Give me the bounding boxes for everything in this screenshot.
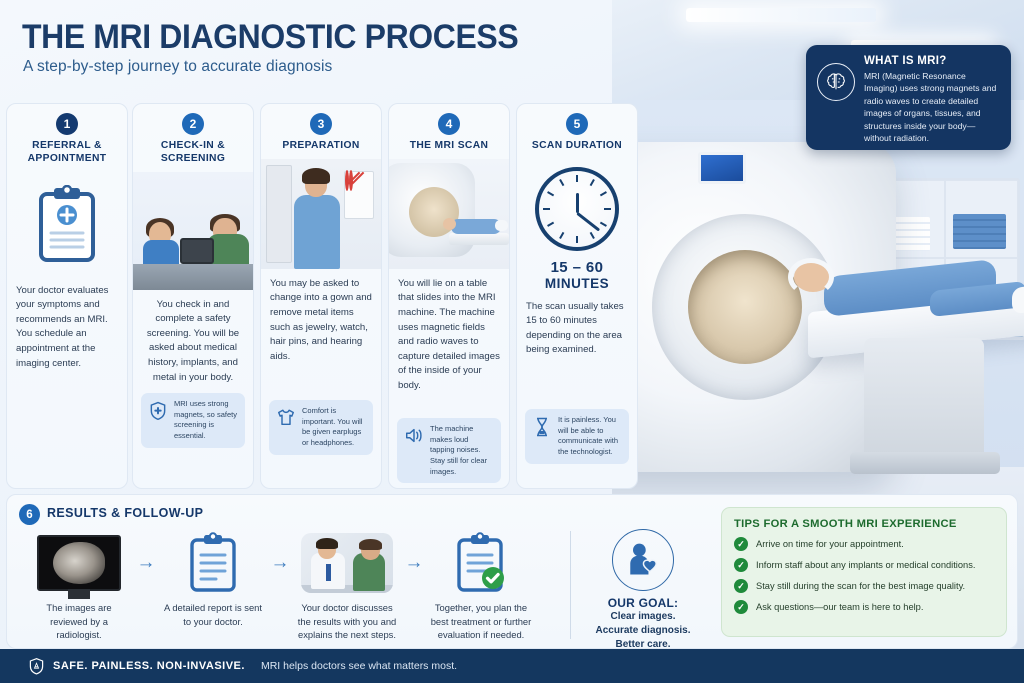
footer-headline: SAFE. PAINLESS. NON-INVASIVE. bbox=[53, 660, 245, 672]
step-tip-4: The machine makes loud tapping noises. S… bbox=[397, 418, 501, 483]
flow-caption-4: Together, you plan the best treatment or… bbox=[429, 601, 533, 642]
our-goal-block: OUR GOAL: Clear images. Accurate diagnos… bbox=[579, 529, 707, 653]
tip-text-2: Inform staff about any implants or medic… bbox=[756, 559, 975, 571]
step-badge-6: 6 bbox=[19, 504, 40, 525]
tip-text-1: Arrive on time for your appointment. bbox=[756, 538, 904, 550]
brain-icon bbox=[817, 63, 855, 101]
step-card-3[interactable]: 3 PREPARATION You may be asked to change… bbox=[260, 103, 382, 489]
flow-arrow-1: → bbox=[131, 529, 161, 597]
flow-caption-3: Your doctor discusses the results with y… bbox=[295, 601, 399, 642]
step-title-3: PREPARATION bbox=[265, 140, 377, 153]
step-card-1[interactable]: 1 REFERRAL & APPOINTMENT Your doctor eva… bbox=[6, 103, 128, 489]
step-body-2: You check in and complete a safety scree… bbox=[133, 298, 253, 385]
reception-photo bbox=[133, 172, 253, 290]
goal-title: OUR GOAL: bbox=[579, 596, 707, 610]
step-badge-3: 3 bbox=[310, 113, 332, 135]
gantry-display-icon bbox=[698, 152, 746, 184]
tips-panel: TIPS FOR A SMOOTH MRI EXPERIENCE ✓ Arriv… bbox=[721, 507, 1007, 637]
flow-caption-2: A detailed report is sent to your doctor… bbox=[161, 601, 265, 628]
step-tip-text-5: It is painless. You will be able to comm… bbox=[558, 415, 622, 458]
step-title-5: SCAN DURATION bbox=[521, 140, 633, 153]
what-is-mri-box: WHAT IS MRI? MRI (Magnetic Resonance Ima… bbox=[806, 45, 1011, 150]
shield-plus-icon bbox=[148, 399, 168, 421]
flow-caption-1: The images are reviewed by a radiologist… bbox=[27, 601, 131, 642]
clock-icon bbox=[517, 159, 637, 259]
step-title-2: CHECK-IN & SCREENING bbox=[137, 140, 249, 166]
mri-scanner-photo bbox=[389, 159, 509, 269]
goal-line-1: Clear images. bbox=[579, 610, 707, 624]
tip-text-3: Stay still during the scan for the best … bbox=[756, 580, 965, 592]
check-circle-icon: ✓ bbox=[734, 537, 748, 551]
panel-divider bbox=[570, 531, 571, 639]
footer-bar: SAFE. PAINLESS. NON-INVASIVE. MRI helps … bbox=[0, 649, 1024, 683]
results-flow: The images are reviewed by a radiologist… bbox=[27, 529, 567, 641]
tip-item: ✓ Inform staff about any implants or med… bbox=[734, 558, 994, 572]
step-title-4: THE MRI SCAN bbox=[393, 140, 505, 153]
infographic-root: THE MRI DIAGNOSTIC PROCESS A step-by-ste… bbox=[0, 0, 1024, 683]
tips-title: TIPS FOR A SMOOTH MRI EXPERIENCE bbox=[734, 518, 994, 530]
step-body-4: You will lie on a table that slides into… bbox=[389, 277, 509, 394]
duration-unit: MINUTES bbox=[517, 276, 637, 292]
duration-range: 15 – 60 bbox=[517, 259, 637, 276]
mri-brain-scan-monitor bbox=[27, 529, 131, 597]
gown-shirt-icon bbox=[276, 406, 296, 427]
doctor-patient-consult-photo bbox=[295, 529, 399, 597]
tip-item: ✓ Arrive on time for your appointment. bbox=[734, 537, 994, 551]
clipboard-check-icon bbox=[429, 529, 533, 597]
step-body-3: You may be asked to change into a gown a… bbox=[261, 277, 381, 364]
report-clipboard-icon bbox=[161, 529, 265, 597]
flow-step-3: Your doctor discusses the results with y… bbox=[295, 529, 399, 642]
tip-item: ✓ Stay still during the scan for the bes… bbox=[734, 579, 994, 593]
step-card-5[interactable]: 5 SCAN DURATION bbox=[516, 103, 638, 489]
check-circle-icon: ✓ bbox=[734, 579, 748, 593]
step-tip-2: MRI uses strong magnets, so safety scree… bbox=[141, 393, 245, 448]
flow-step-1: The images are reviewed by a radiologist… bbox=[27, 529, 131, 642]
step-card-2[interactable]: 2 CHECK-IN & SCREENING You check in and … bbox=[132, 103, 254, 489]
table-foot bbox=[850, 452, 1000, 474]
goal-line-2: Accurate diagnosis. bbox=[579, 624, 707, 638]
tip-text-4: Ask questions—our team is here to help. bbox=[756, 601, 923, 613]
flow-step-2: A detailed report is sent to your doctor… bbox=[161, 529, 265, 628]
step-badge-5: 5 bbox=[566, 113, 588, 135]
check-circle-icon: ✓ bbox=[734, 600, 748, 614]
hourglass-icon bbox=[532, 415, 552, 437]
step-body-1: Your doctor evaluates your symptoms and … bbox=[7, 284, 127, 371]
scan-duration-value: 15 – 60 MINUTES bbox=[517, 259, 637, 292]
results-panel: 6 RESULTS & FOLLOW-UP The images are rev… bbox=[6, 494, 1018, 649]
flow-step-4: Together, you plan the best treatment or… bbox=[429, 529, 533, 642]
clipboard-medical-icon bbox=[7, 172, 127, 276]
tip-item: ✓ Ask questions—our team is here to help… bbox=[734, 600, 994, 614]
flow-arrow-3: → bbox=[399, 529, 429, 597]
step-title-1: REFERRAL & APPOINTMENT bbox=[11, 140, 123, 166]
patient-care-heart-icon bbox=[612, 529, 674, 591]
table-base bbox=[864, 338, 984, 460]
step-tip-text-4: The machine makes loud tapping noises. S… bbox=[430, 424, 494, 477]
mri-bore bbox=[652, 214, 838, 400]
speaker-sound-icon bbox=[404, 424, 424, 445]
step-tip-3: Comfort is important. You will be given … bbox=[269, 400, 373, 455]
results-title: RESULTS & FOLLOW-UP bbox=[47, 506, 203, 520]
shield-icon bbox=[28, 657, 45, 676]
flow-arrow-2: → bbox=[265, 529, 295, 597]
step-tip-text-2: MRI uses strong magnets, so safety scree… bbox=[174, 399, 238, 442]
info-box-body: MRI (Magnetic Resonance Imaging) uses st… bbox=[864, 70, 1001, 145]
steps-container: 1 REFERRAL & APPOINTMENT Your doctor eva… bbox=[6, 103, 622, 489]
page-title: THE MRI DIAGNOSTIC PROCESS bbox=[22, 18, 518, 57]
step-tip-5: It is painless. You will be able to comm… bbox=[525, 409, 629, 464]
step-badge-2: 2 bbox=[182, 113, 204, 135]
step-badge-4: 4 bbox=[438, 113, 460, 135]
footer-subtext: MRI helps doctors see what matters most. bbox=[261, 660, 457, 672]
page-subtitle: A step-by-step journey to accurate diagn… bbox=[23, 58, 332, 76]
patient-headphones-icon bbox=[788, 258, 834, 296]
info-box-title: WHAT IS MRI? bbox=[864, 55, 1001, 67]
step-card-4[interactable]: 4 THE MRI SCAN You will lie on a table t… bbox=[388, 103, 510, 489]
step-body-5: The scan usually takes 15 to 60 minutes … bbox=[517, 300, 637, 358]
step-tip-text-3: Comfort is important. You will be given … bbox=[302, 406, 366, 449]
check-circle-icon: ✓ bbox=[734, 558, 748, 572]
changing-room-photo bbox=[261, 159, 381, 269]
step-badge-1: 1 bbox=[56, 113, 78, 135]
